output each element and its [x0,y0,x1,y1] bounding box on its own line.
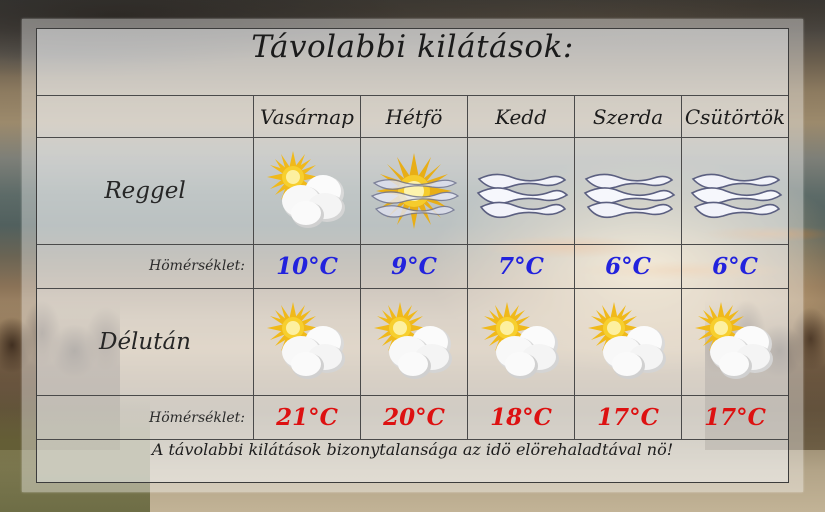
afternoon-icon-sunday [253,289,360,395]
day-label: Csütörtök [685,105,785,129]
morning-icon-sunday [253,138,360,244]
morning-temp-thursday: 6°C [681,245,788,289]
afternoon-temp-tuesday: 18°C [467,396,574,440]
fog-icon [687,145,783,237]
sun-behind-cloud-icon [259,296,355,388]
morning-temp-wednesday: 6°C [574,245,681,289]
afternoon-icon-thursday [681,289,788,395]
morning-temp-monday: 9°C [360,245,467,289]
sun-behind-cloud-icon [687,296,783,388]
header-corner-cell [37,96,253,137]
footer-note: A távolabbi kilátások bizonytalansága az… [37,440,788,482]
temperature-value: 17°C [704,404,766,431]
morning-icon-thursday [681,138,788,244]
morning-temperature-row: Hömérséklet: 10°C 9°C 7°C 6°C 6°C [37,244,788,289]
morning-temp-sunday: 10°C [253,245,360,289]
temperature-value: 10°C [276,253,338,280]
afternoon-icon-tuesday [467,289,574,395]
sun-behind-cloud-icon [473,296,569,388]
day-label: Hétfö [386,105,443,129]
temperature-value: 7°C [498,253,544,280]
sun-behind-haze-icon [366,145,462,237]
day-label: Vasárnap [260,105,354,129]
fog-icon [473,145,569,237]
afternoon-temp-thursday: 17°C [681,396,788,440]
morning-icon-row: Reggel [37,137,788,244]
afternoon-temp-wednesday: 17°C [574,396,681,440]
fog-icon [580,145,676,237]
day-header-wednesday: Szerda [574,96,681,137]
temperature-value: 9°C [391,253,437,280]
afternoon-temperature-row: Hömérséklet: 21°C 20°C 18°C 17°C 17°C [37,395,788,440]
day-header-row: Vasárnap Hétfö Kedd Szerda Csütörtök [37,95,788,137]
day-header-tuesday: Kedd [467,96,574,137]
afternoon-temp-monday: 20°C [360,396,467,440]
afternoon-icon-row: Délután [37,288,788,395]
weather-forecast-screen: Távolabbi kilátások: Vasárnap Hétfö Kedd… [0,0,825,512]
afternoon-temp-label-cell: Hömérséklet: [37,396,253,440]
temperature-value: 21°C [276,404,338,431]
temperature-value: 20°C [383,404,445,431]
day-header-thursday: Csütörtök [681,96,788,137]
morning-temp-tuesday: 7°C [467,245,574,289]
day-header-sunday: Vasárnap [253,96,360,137]
morning-icon-wednesday [574,138,681,244]
morning-icon-monday [360,138,467,244]
temperature-value: 17°C [597,404,659,431]
morning-temp-label-cell: Hömérséklet: [37,245,253,289]
temperature-value: 18°C [490,404,552,431]
temperature-label: Hömérséklet: [149,410,245,426]
footer-row: A távolabbi kilátások bizonytalansága az… [37,439,788,482]
afternoon-icon-monday [360,289,467,395]
morning-icon-tuesday [467,138,574,244]
title-row: Távolabbi kilátások: [37,29,788,95]
day-label: Szerda [593,105,663,129]
afternoon-row-label-cell: Délután [37,289,253,395]
period-label: Délután [99,329,191,355]
afternoon-temp-sunday: 21°C [253,396,360,440]
sun-behind-cloud-icon [366,296,462,388]
day-header-monday: Hétfö [360,96,467,137]
afternoon-icon-wednesday [574,289,681,395]
sun-behind-cloud-icon [259,145,355,237]
morning-row-label-cell: Reggel [37,138,253,244]
forecast-table: Távolabbi kilátások: Vasárnap Hétfö Kedd… [36,28,789,483]
sun-behind-cloud-icon [580,296,676,388]
temperature-value: 6°C [605,253,651,280]
day-label: Kedd [495,105,547,129]
page-title: Távolabbi kilátások: [37,29,788,95]
period-label: Reggel [104,178,185,204]
temperature-label: Hömérséklet: [149,258,245,274]
temperature-value: 6°C [712,253,758,280]
